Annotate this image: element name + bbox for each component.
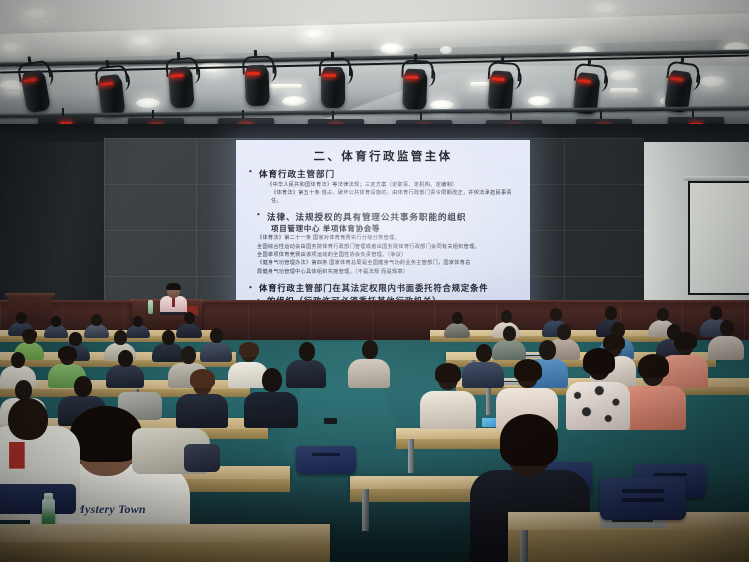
slide-bullet-group-1: 体育行政主管部门 《中华人民共和国体育法》等法律法规；三定方案（定职责、定机构、…: [245, 168, 521, 205]
stage-spotlight: [484, 61, 518, 115]
audience-member-foreground: █: [0, 398, 80, 518]
person-head: [262, 368, 282, 392]
person-head: [503, 326, 516, 341]
person-hair: [638, 354, 669, 378]
person-head: [15, 380, 32, 400]
slide-bullet-1-sub-b: 《体育法》第五十条 侵占、破坏公共体育设施的，由体育行政部门责令限期改正，并依法…: [271, 190, 521, 205]
ceiling-downlight: [282, 96, 306, 106]
spotlight-cable: [339, 64, 353, 84]
ceiling-downlight: [136, 98, 160, 108]
person-head: [476, 344, 492, 362]
ceiling-downlight: [128, 34, 158, 47]
ceiling-downlight: [22, 8, 52, 21]
person-head: [299, 342, 315, 361]
slide-bullet-3-line-1: 体育行政主管部门在其法定权限内书面委托符合规定条件: [259, 283, 521, 296]
person-hair: [58, 346, 77, 360]
shirt-print-graphic: █: [2, 442, 32, 468]
person-head: [710, 306, 722, 320]
spotlight-led-indicator: [405, 76, 418, 79]
person-hair: [514, 359, 542, 381]
presenter-at-podium: [160, 284, 187, 308]
person-head: [181, 346, 196, 364]
person-hair: [190, 369, 215, 388]
audience-member: [348, 340, 390, 386]
desk-front-panel: [0, 542, 330, 562]
desk-leg: [520, 530, 528, 562]
slide-bullet-2-sub-b: 全国综合性运动会由国务院体育行政部门管理或者由国务院体育行政部门会同有关组织管理…: [257, 244, 521, 251]
person-head: [184, 312, 195, 324]
person-hair: [674, 332, 697, 349]
ceiling-downlight: [592, 2, 622, 15]
ceiling-downlight: [528, 96, 550, 106]
person-head: [657, 308, 669, 321]
person-torso: [106, 365, 144, 388]
person-head: [162, 330, 175, 345]
par-hanger: [62, 108, 64, 116]
par-hanger: [420, 112, 422, 120]
person-head: [11, 352, 25, 368]
slide-bullet-2-sub-e: 局健身气功管理中心具体组织实施管理。（不是法规 而是规章）: [257, 269, 521, 276]
spotlight-led-indicator: [323, 74, 336, 77]
audience-member: [106, 350, 144, 386]
par-hanger: [242, 110, 244, 118]
slide-bullet-2: 法律、法规授权的具有管理公共事务职能的组织: [267, 211, 521, 223]
audience-member: [444, 312, 470, 336]
chair-back-slot: [653, 473, 688, 476]
chair[interactable]: [296, 446, 356, 474]
person-head: [118, 350, 133, 367]
lecture-hall-photo: 二、体育行政监管主体 体育行政主管部门 《中华人民共和国体育法》等法律法规；三定…: [0, 0, 749, 562]
presenter-hair: [166, 283, 181, 290]
person-head: [605, 306, 617, 320]
audience-member: [566, 352, 630, 428]
bag-on-desk: [184, 444, 220, 472]
par-hanger: [600, 111, 602, 119]
person-head: [133, 316, 143, 327]
person-hair: [583, 348, 615, 374]
stage-spotlight: [399, 59, 431, 112]
person-head: [720, 320, 734, 336]
audience-member: [708, 320, 744, 358]
stage-spotlight: [164, 57, 198, 111]
slide-bullet-group-2: 法律、法规授权的具有管理公共事务职能的组织 项目管理中心 单项体育协会等 《体育…: [245, 211, 521, 276]
slide-bullet-1: 体育行政主管部门: [259, 168, 521, 180]
stage-spotlight: [241, 55, 273, 108]
chair-back-slot: [622, 489, 663, 493]
person-torso: [420, 391, 476, 429]
par-hanger: [692, 109, 694, 117]
audience-member: [420, 366, 476, 426]
person-hair: [22, 329, 37, 339]
projection-screen[interactable]: 二、体育行政监管主体 体育行政主管部门 《中华人民共和国体育法》等法律法规；三定…: [236, 140, 530, 316]
person-head: [114, 330, 127, 345]
desk-front-panel: [508, 530, 749, 562]
person-hair: [500, 414, 558, 466]
par-hanger: [152, 110, 154, 118]
slide-bullet-2-sub-c: 全国单项体育竞赛由该项运动的全国性协会负责管理。（争议）: [257, 252, 521, 259]
person-head: [74, 376, 92, 397]
par-hanger: [510, 112, 512, 120]
slide-bullet-1-sub-a: 《中华人民共和国体育法》等法律法规；三定方案（定职责、定机构、定编制）: [267, 182, 521, 189]
ceiling-downlight: [302, 28, 328, 40]
desk-foreground: [0, 524, 330, 542]
stage-spotlight: [93, 65, 128, 120]
desk-leg: [362, 489, 369, 531]
person-head: [501, 310, 512, 323]
ceiling-downlight: [0, 42, 22, 53]
desk-leg: [486, 387, 491, 415]
person-hair: [603, 334, 625, 350]
slide-bullet-2-subtitle: 项目管理中心 单项体育协会等: [271, 223, 521, 234]
slide-bullet-2-sub-a: 《体育法》第二十一条 国家对体育竞赛实行分级分类管理。: [257, 235, 521, 242]
chair[interactable]: [600, 478, 686, 520]
person-head: [362, 340, 378, 359]
person-hair: [239, 342, 259, 357]
person-head: [550, 308, 562, 321]
person-head: [69, 332, 82, 346]
spotlight-led-indicator: [247, 72, 260, 75]
person-head: [557, 324, 571, 340]
stage-spotlight: [318, 58, 348, 110]
ceiling-downlight: [610, 70, 636, 81]
ceiling-strip-light: [610, 88, 638, 93]
person-torso: [348, 359, 390, 388]
person-head: [210, 328, 223, 343]
par-hanger: [332, 111, 334, 119]
person-head: [91, 314, 102, 326]
ceiling-downlight: [700, 76, 725, 87]
chair-back-over-shirt: [0, 484, 76, 514]
chair-back-slot: [622, 498, 663, 502]
person-head: [452, 312, 463, 324]
slide-title: 二、体育行政监管主体: [245, 148, 521, 164]
stage-edge: [0, 300, 749, 303]
person-torso: [708, 336, 744, 360]
secondary-wall-screen: [688, 181, 749, 295]
mobile-phone[interactable]: [324, 418, 337, 424]
audience-member: [244, 368, 298, 426]
chair-back-slot: [312, 453, 341, 456]
person-head: [51, 316, 61, 327]
presentation-slide: 二、体育行政监管主体 体育行政主管部门 《中华人民共和国体育法》等法律法规；三定…: [236, 140, 530, 316]
slide-bullet-2-sub-d: 《健身气功管理办法》第四条 国家体育总局是全国健身气功的业务主管部门，国家体育总: [257, 260, 521, 267]
person-head: [8, 398, 48, 440]
presenter-tie: [172, 297, 175, 307]
smoke-detector-icon: [440, 46, 452, 54]
ceiling-downlight: [380, 43, 404, 54]
presenter-water-bottle: [148, 300, 153, 314]
person-head: [16, 312, 27, 324]
person-torso: [244, 392, 298, 428]
person-hair: [435, 363, 461, 383]
bottle-cap: [44, 493, 53, 499]
person-torso: [444, 323, 470, 338]
desk-leg: [408, 439, 414, 473]
person-head: [539, 340, 556, 360]
